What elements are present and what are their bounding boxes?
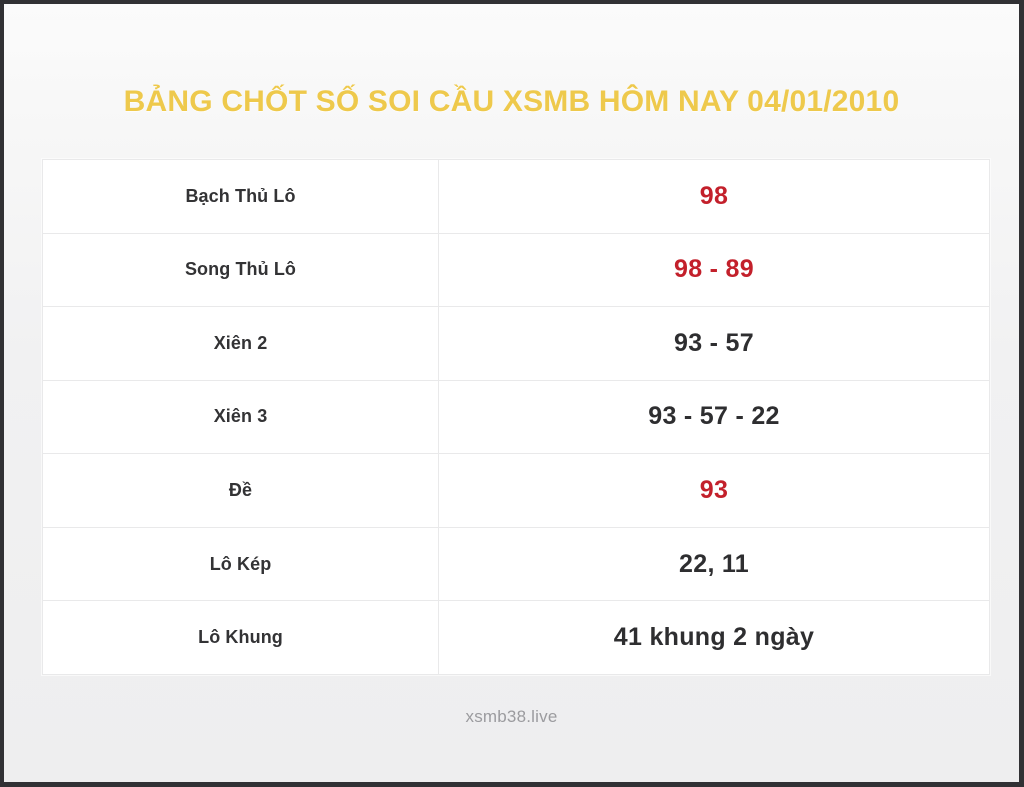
prediction-table-body: Bạch Thủ Lô 98 Song Thủ Lô 98 - 89 Xiên …	[43, 160, 990, 675]
table-row: Bạch Thủ Lô 98	[43, 160, 990, 234]
row-label-xien-2: Xiên 2	[43, 307, 439, 381]
screen-frame: BẢNG CHỐT SỐ SOI CẦU XSMB HÔM NAY 04/01/…	[0, 0, 1024, 787]
row-label-lo-khung: Lô Khung	[43, 601, 439, 675]
page-title: BẢNG CHỐT SỐ SOI CẦU XSMB HÔM NAY 04/01/…	[4, 87, 1019, 117]
row-value-lo-kep: 22, 11	[439, 527, 990, 601]
table-row: Xiên 2 93 - 57	[43, 307, 990, 381]
row-value-lo-khung: 41 khung 2 ngày	[439, 601, 990, 675]
row-value-bach-thu-lo: 98	[439, 160, 990, 234]
table-row: Xiên 3 93 - 57 - 22	[43, 380, 990, 454]
site-watermark: xsmb38.live	[4, 707, 1019, 727]
prediction-table: Bạch Thủ Lô 98 Song Thủ Lô 98 - 89 Xiên …	[42, 159, 990, 675]
table-row: Song Thủ Lô 98 - 89	[43, 233, 990, 307]
table-row: Đề 93	[43, 454, 990, 528]
row-label-song-thu-lo: Song Thủ Lô	[43, 233, 439, 307]
row-label-xien-3: Xiên 3	[43, 380, 439, 454]
prediction-card: BẢNG CHỐT SỐ SOI CẦU XSMB HÔM NAY 04/01/…	[4, 4, 1019, 782]
row-value-xien-2: 93 - 57	[439, 307, 990, 381]
table-row: Lô Kép 22, 11	[43, 527, 990, 601]
row-value-de: 93	[439, 454, 990, 528]
table-row: Lô Khung 41 khung 2 ngày	[43, 601, 990, 675]
row-label-de: Đề	[43, 454, 439, 528]
row-label-lo-kep: Lô Kép	[43, 527, 439, 601]
row-label-bach-thu-lo: Bạch Thủ Lô	[43, 160, 439, 234]
row-value-song-thu-lo: 98 - 89	[439, 233, 990, 307]
row-value-xien-3: 93 - 57 - 22	[439, 380, 990, 454]
